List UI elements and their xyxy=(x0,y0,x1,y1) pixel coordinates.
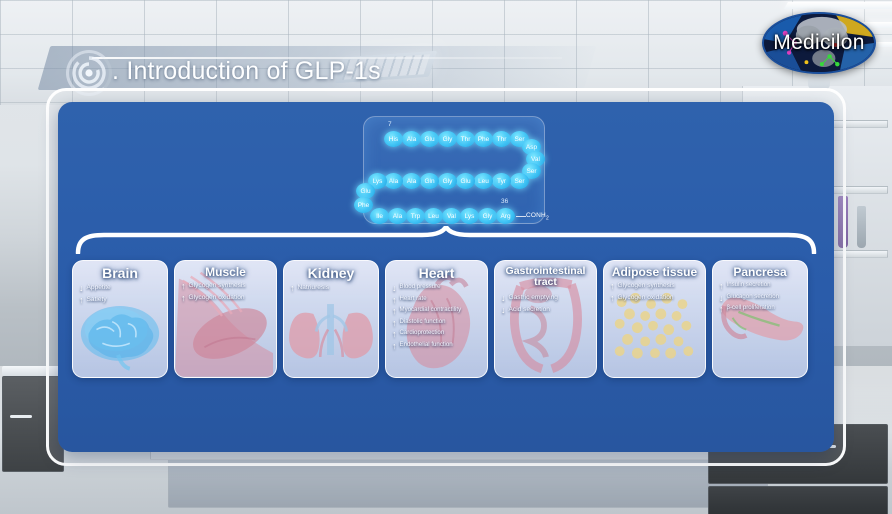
amino-acid-bead: Gly xyxy=(478,208,497,224)
organ-effect-list: ↓Gastric emptying ↓Acid secretion xyxy=(495,287,596,315)
cabinet xyxy=(708,486,888,514)
organ-effect-item: ↓Gastric emptying xyxy=(501,294,591,303)
residue-start-number: 7 xyxy=(388,121,392,128)
organ-effect-text: Glycogen synthesis xyxy=(618,282,675,289)
organ-effect-list: ↓Blood pressure ↑Heart rate ↑Myocardial … xyxy=(386,280,487,351)
amino-acid-bead: Glu xyxy=(420,131,439,147)
organ-effect-text: Blood pressure xyxy=(400,284,441,291)
organ-effect-item: ↑β-cell proliferation xyxy=(719,305,802,314)
organ-card-adipose-tissue[interactable]: Adipose tissue ↑Glycogen synthesis ↑Glyc… xyxy=(603,260,706,378)
brace-connector xyxy=(74,226,818,254)
organ-effect-list: ↑Glycogen synthesis ↑Glycogen oxidation xyxy=(604,278,705,303)
organ-effect-item: ↓Appetite xyxy=(79,284,162,293)
arrow-down-icon: ↓ xyxy=(392,284,397,293)
amino-acid-bead: Gly xyxy=(438,131,457,147)
amino-acid-bead: Ala xyxy=(402,173,421,189)
organ-effect-text: Acid secretion xyxy=(509,306,550,313)
arrow-up-icon: ↑ xyxy=(610,282,615,291)
organ-effect-list: ↑Glycogen synthesis ↑Glycogen oxidation xyxy=(175,278,276,303)
organ-effect-text: Myocardial contractility xyxy=(400,307,462,314)
reagent-bottle-icon xyxy=(857,206,866,248)
organ-card-pancreas[interactable]: Pancresa ↑Insulin secretion ↓Glucagon se… xyxy=(712,260,808,378)
arrow-up-icon: ↑ xyxy=(392,319,397,328)
amino-acid-bead: Phe xyxy=(474,131,493,147)
page-title: . Introduction of GLP-1s xyxy=(112,57,381,86)
amino-acid-bead: Leu xyxy=(424,208,443,224)
organ-card-title: Brain xyxy=(73,261,167,280)
organ-card-title: Muscle xyxy=(175,261,276,278)
residue-end-number: 36 xyxy=(501,198,508,205)
arrow-up-icon: ↑ xyxy=(392,296,397,305)
amino-acid-bead: Glu xyxy=(456,173,475,189)
amino-acid-bead: Thr xyxy=(492,131,511,147)
organ-effect-text: Endothelial function xyxy=(400,342,453,349)
amino-acid-bead: Gly xyxy=(438,173,457,189)
amino-acid-bead: Ala xyxy=(402,131,421,147)
slide-stage: . Introduction of GLP-1s Medicilon xyxy=(0,0,892,514)
organ-effect-text: Cardioprotection xyxy=(400,330,445,337)
amino-acid-bead: Arg xyxy=(496,208,515,224)
organ-effect-item: ↑Myocardial contractility xyxy=(392,307,482,316)
organ-effect-text: Diastolic function xyxy=(400,319,446,326)
organ-effect-text: β-cell proliferation xyxy=(727,305,775,312)
organ-effect-text: Insulin secretion xyxy=(727,282,771,289)
c-terminus-text: CONH xyxy=(526,212,546,219)
organ-effect-text: Glycogen oxidation xyxy=(618,294,674,301)
organ-effect-text: Glycogen oxidation xyxy=(189,294,245,301)
organ-card-brain[interactable]: Brain ↓Appetite ↑Satiety xyxy=(72,260,168,378)
organ-card-kidney[interactable]: Kidney ↑Natriuresis xyxy=(283,260,379,378)
organ-effect-item: ↓Blood pressure xyxy=(392,284,482,293)
organ-card-gastrointestinal-tract[interactable]: Gastrointestinal tract ↓Gastric emptying… xyxy=(494,260,597,378)
amino-acid-bead: Tyr xyxy=(492,173,511,189)
arrow-up-icon: ↑ xyxy=(719,282,724,291)
logo-text: Medicilon xyxy=(764,14,874,72)
organ-effect-text: Appetite xyxy=(87,284,111,291)
organ-card-muscle[interactable]: Muscle ↑Glycogen synthesis ↑Glycogen oxi… xyxy=(174,260,277,378)
arrow-down-icon: ↓ xyxy=(501,294,506,303)
organ-card-title: Kidney xyxy=(284,261,378,280)
c-terminus-label: CONH2 xyxy=(526,212,549,221)
organ-effect-list: ↑Natriuresis xyxy=(284,280,378,293)
organ-effect-text: Glucagon secretion xyxy=(727,294,780,301)
organ-effect-text: Glycogen synthesis xyxy=(189,282,246,289)
amino-acid-bead: Lys xyxy=(460,208,479,224)
arrow-down-icon: ↓ xyxy=(501,306,506,315)
organ-effect-item: ↓Acid secretion xyxy=(501,306,591,315)
organ-effect-item: ↑Heart rate xyxy=(392,296,482,305)
amino-acid-bead: Val xyxy=(442,208,461,224)
organ-effect-item: ↑Natriuresis xyxy=(290,284,373,293)
organ-effect-item: ↑Diastolic function xyxy=(392,319,482,328)
organ-effect-list: ↑Insulin secretion ↓Glucagon secretion ↑… xyxy=(713,278,807,314)
ceiling-light-icon xyxy=(784,2,892,9)
organ-effect-item: ↓Glucagon secretion xyxy=(719,294,802,303)
arrow-up-icon: ↑ xyxy=(181,294,186,303)
arrow-up-icon: ↑ xyxy=(719,305,724,314)
arrow-up-icon: ↑ xyxy=(610,294,615,303)
organ-card-title: Gastrointestinal tract xyxy=(495,261,596,287)
amino-acid-bead: Ile xyxy=(370,208,389,224)
page-title-text: Introduction of GLP-1s xyxy=(126,57,381,85)
organ-card-heart[interactable]: Heart ↓Blood pressure ↑Heart rate ↑Myoca… xyxy=(385,260,488,378)
organ-effect-text: Satiety xyxy=(87,296,107,303)
organ-effect-list: ↓Appetite ↑Satiety xyxy=(73,280,167,305)
amino-acid-bead: Ala xyxy=(388,208,407,224)
cabinet-handle-icon xyxy=(10,415,32,418)
organ-card-title: Heart xyxy=(386,261,487,280)
organ-card-title: Adipose tissue xyxy=(604,261,705,278)
arrow-up-icon: ↑ xyxy=(392,330,397,339)
glp1-peptide-sequence-diagram: 7 His Ala Glu Gly Thr Phe Thr Ser Asp Va… xyxy=(363,116,545,224)
organ-effect-item: ↑Glycogen oxidation xyxy=(181,294,271,303)
page-title-prefix: . xyxy=(112,57,119,85)
amino-acid-bead: Gln xyxy=(420,173,439,189)
medicilon-logo[interactable]: Medicilon xyxy=(762,12,876,74)
amino-acid-bead: Ser xyxy=(510,173,529,189)
amino-acid-bead: Phe xyxy=(354,197,373,213)
organ-effect-text: Gastric emptying xyxy=(509,294,558,301)
arrow-up-icon: ↑ xyxy=(79,296,84,305)
terminus-bond xyxy=(516,216,526,217)
arrow-up-icon: ↑ xyxy=(392,307,397,316)
organ-effect-item: ↑Endothelial function xyxy=(392,342,482,351)
amino-acid-bead: Thr xyxy=(456,131,475,147)
organ-effect-item: ↑Glycogen oxidation xyxy=(610,294,700,303)
organ-effect-text: Natriuresis xyxy=(298,284,330,291)
arrow-up-icon: ↑ xyxy=(290,284,295,293)
organ-card-row: Brain ↓Appetite ↑Satiety Muscle ↑Glycoge… xyxy=(72,260,820,378)
amino-acid-bead: His xyxy=(384,131,403,147)
organ-card-title: Pancresa xyxy=(713,261,807,278)
arrow-up-icon: ↑ xyxy=(392,342,397,351)
arrow-down-icon: ↓ xyxy=(79,284,84,293)
organ-effect-text: Heart rate xyxy=(400,296,427,303)
target-swirl-icon xyxy=(72,56,106,90)
organ-effect-item: ↑Satiety xyxy=(79,296,162,305)
arrow-down-icon: ↓ xyxy=(719,294,724,303)
organ-effect-item: ↑Insulin secretion xyxy=(719,282,802,291)
organ-effect-item: ↑Cardioprotection xyxy=(392,330,482,339)
content-panel: 7 His Ala Glu Gly Thr Phe Thr Ser Asp Va… xyxy=(58,102,834,452)
arrow-up-icon: ↑ xyxy=(181,282,186,291)
c-terminus-subscript: 2 xyxy=(546,215,549,221)
organ-effect-item: ↑Glycogen synthesis xyxy=(610,282,700,291)
organ-effect-item: ↑Glycogen synthesis xyxy=(181,282,271,291)
amino-acid-bead: Leu xyxy=(474,173,493,189)
amino-acid-bead: Trp xyxy=(406,208,425,224)
